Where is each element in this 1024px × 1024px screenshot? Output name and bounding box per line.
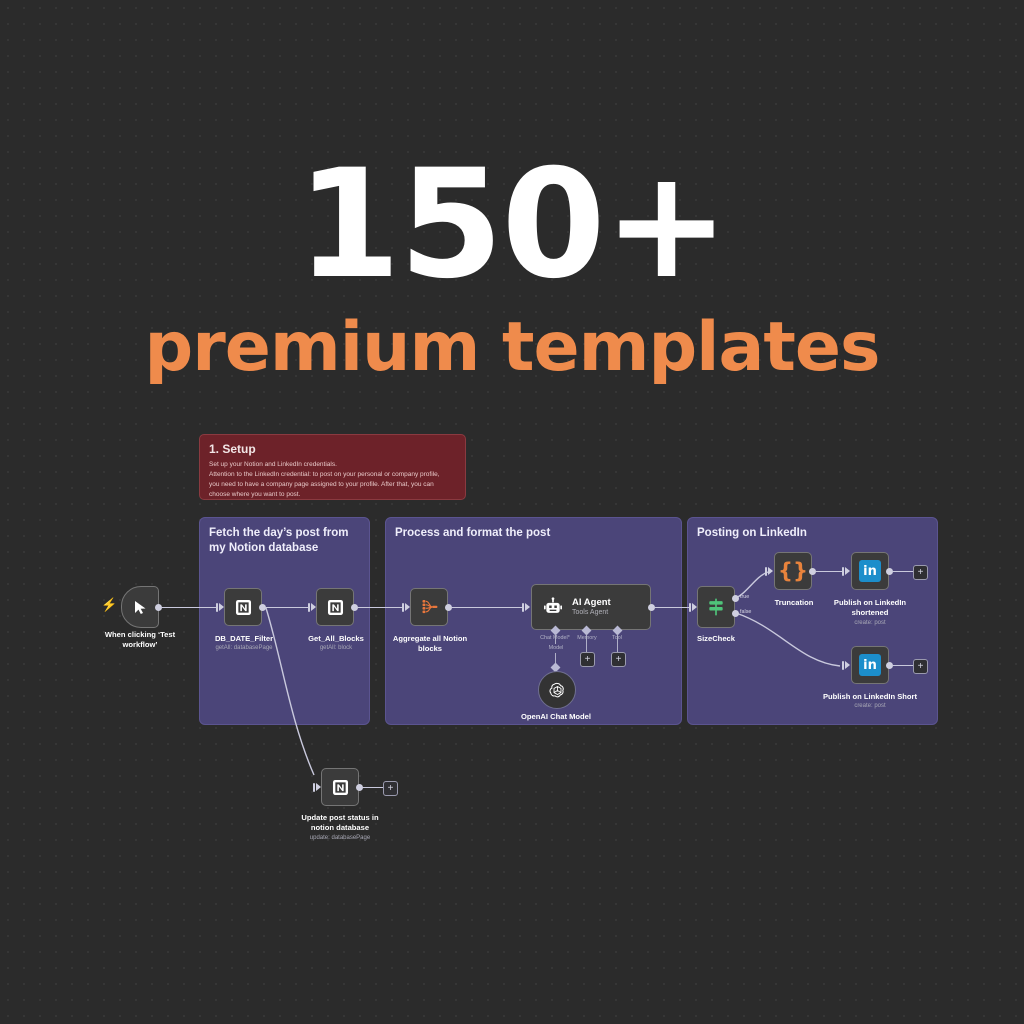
node-label-openai-chat-model: OpenAI Chat Model xyxy=(500,712,612,722)
port-aggregate-in[interactable] xyxy=(402,603,404,612)
openai-icon xyxy=(548,681,567,700)
notion-icon xyxy=(331,778,350,797)
edge-publish-shortened-to-add xyxy=(892,571,913,572)
node-sub-get-all-blocks: getAll: block xyxy=(298,645,374,651)
node-sub-publish-short: create: post xyxy=(812,703,928,709)
port-updatestatus-in[interactable] xyxy=(313,783,315,792)
linkedin-icon: in xyxy=(859,560,881,582)
edge-memory-to-add xyxy=(586,634,587,652)
port-truncation-in[interactable] xyxy=(765,567,767,576)
arrow-publish-shortened-in xyxy=(845,567,850,575)
node-label-get-all-blocks: Get_All_Blocks xyxy=(298,634,374,644)
port-sizecheck-in[interactable] xyxy=(689,603,691,612)
add-node-button-publish-shortened[interactable]: + xyxy=(913,565,928,580)
port-getblocks-in[interactable] xyxy=(308,603,310,612)
lightning-bolt-icon: ⚡ xyxy=(101,598,117,611)
node-sub-update-post-status: update: databasePage xyxy=(290,835,390,841)
node-label-update-post-status: Update post status in notion database xyxy=(290,813,390,834)
sticky-note-line-2: Attention to the LinkedIn credential: to… xyxy=(209,470,456,480)
cursor-icon xyxy=(134,600,147,615)
add-node-button-update-status[interactable]: + xyxy=(383,781,398,796)
port-sizecheck-true[interactable] xyxy=(732,595,739,602)
edge-updatestatus-to-add xyxy=(362,787,383,788)
robot-icon xyxy=(543,597,563,617)
sticky-note-line-1: Set up your Notion and LinkedIn credenti… xyxy=(209,460,456,470)
node-label-publish-shortened: Publish on LinkedIn shortened xyxy=(820,598,920,619)
arrow-publish-short-in xyxy=(845,661,850,669)
group-title-posting: Posting on LinkedIn xyxy=(697,526,929,541)
node-sub-db-date-filter: getAll: databasePage xyxy=(205,645,283,651)
edge-dbfilter-to-getblocks xyxy=(265,607,309,608)
node-trigger-test-workflow[interactable] xyxy=(121,586,159,628)
node-get-all-blocks[interactable] xyxy=(316,588,354,626)
arrow-truncation-in xyxy=(768,567,773,575)
sticky-note-title: 1. Setup xyxy=(209,442,456,456)
node-sub-ai-agent: Tools Agent xyxy=(572,609,611,617)
edge-aggregate-to-agent xyxy=(451,607,523,608)
node-label-size-check: SizeCheck xyxy=(678,634,754,644)
node-label-trigger: When clicking ‘Test workflow’ xyxy=(90,630,190,651)
group-title-fetch: Fetch the day’s post from my Notion data… xyxy=(209,526,361,556)
port-agent-in[interactable] xyxy=(522,603,524,612)
node-label-truncation: Truncation xyxy=(762,598,826,608)
notion-icon xyxy=(234,598,253,617)
linkedin-icon: in xyxy=(859,654,881,676)
edge-agent-to-chatmodel-a xyxy=(555,634,556,644)
connector-label-model: Model xyxy=(538,645,574,651)
code-braces-icon: {} xyxy=(778,561,808,582)
group-title-process: Process and format the post xyxy=(395,526,673,541)
node-aggregate-notion-blocks[interactable] xyxy=(410,588,448,626)
port-publish-shortened-in[interactable] xyxy=(842,567,844,576)
node-label-aggregate: Aggregate all Notion blocks xyxy=(390,634,470,655)
edge-agent-to-sizecheck xyxy=(654,607,690,608)
arrow-agent-in xyxy=(525,603,530,611)
node-label-db-date-filter: DB_DATE_Filter xyxy=(205,634,283,644)
node-publish-linkedin-short[interactable]: in xyxy=(851,646,889,684)
notion-icon xyxy=(326,598,345,617)
add-tool-button[interactable]: + xyxy=(611,652,626,667)
edge-publish-short-to-add xyxy=(892,665,913,666)
branch-label-true: true xyxy=(740,594,749,600)
sticky-note-setup[interactable]: 1. Setup Set up your Notion and LinkedIn… xyxy=(199,434,466,500)
port-publish-short-in[interactable] xyxy=(842,661,844,670)
branch-label-false: false xyxy=(740,609,751,615)
edge-tool-to-add xyxy=(617,634,618,652)
node-label-ai-agent: AI Agent xyxy=(572,597,611,608)
edge-trigger-to-dbfilter xyxy=(161,607,217,608)
add-memory-button[interactable]: + xyxy=(580,652,595,667)
workflow-canvas[interactable]: 1. Setup Set up your Notion and LinkedIn… xyxy=(0,0,1024,1024)
sticky-note-line-3: you need to have a company page assigned… xyxy=(209,480,456,490)
node-label-publish-short: Publish on LinkedIn Short xyxy=(812,692,928,702)
add-node-button-publish-short[interactable]: + xyxy=(913,659,928,674)
edge-getblocks-to-aggregate xyxy=(357,607,403,608)
node-openai-chat-model[interactable] xyxy=(538,671,576,709)
connector-curves xyxy=(0,0,1024,1024)
sticky-note-line-4: choose where you want to post. xyxy=(209,490,456,500)
port-sizecheck-false[interactable] xyxy=(732,610,739,617)
node-db-date-filter[interactable] xyxy=(224,588,262,626)
node-ai-agent[interactable]: AI Agent Tools Agent xyxy=(531,584,651,630)
sticky-note-body: Set up your Notion and LinkedIn credenti… xyxy=(209,460,456,500)
node-update-post-status[interactable] xyxy=(321,768,359,806)
node-size-check[interactable] xyxy=(697,586,735,628)
edge-truncation-to-publish-shortened xyxy=(815,571,843,572)
if-switch-icon xyxy=(706,597,726,617)
port-dbfilter-in[interactable] xyxy=(216,603,218,612)
aggregate-icon xyxy=(419,598,440,616)
node-sub-publish-shortened: create: post xyxy=(820,620,920,626)
node-publish-linkedin-shortened[interactable]: in xyxy=(851,552,889,590)
node-truncation[interactable]: {} xyxy=(774,552,812,590)
